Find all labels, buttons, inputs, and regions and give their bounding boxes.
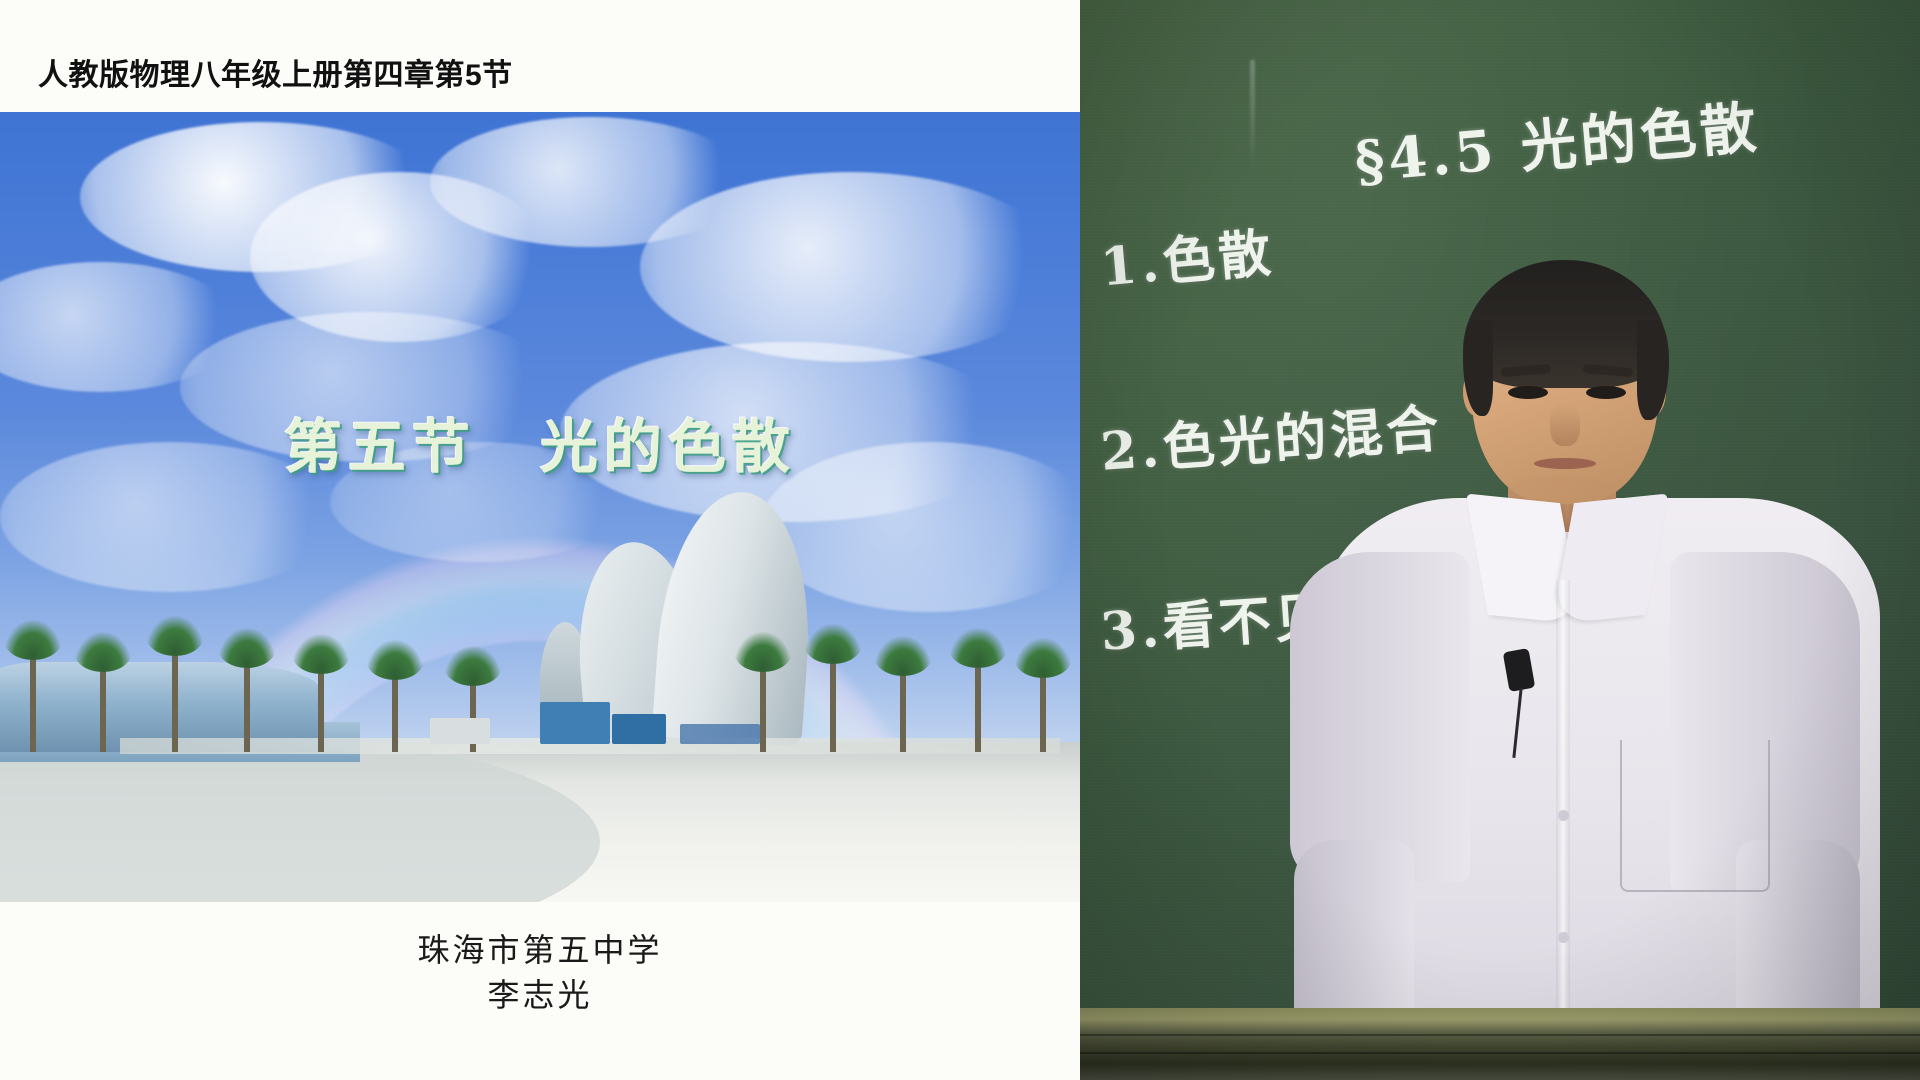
slide-header: 人教版物理八年级上册第四章第5节 [0,0,1080,112]
palm-tree [244,652,250,752]
chalk-ledge [1080,1008,1920,1080]
teacher-eye-left [1508,386,1548,399]
school-name: 珠海市第五中学 [0,902,1080,973]
palm-tree [1040,662,1046,752]
palm-tree [900,660,906,752]
chalk-smudge [1250,60,1255,170]
palm-tree [392,664,398,752]
palm-tree [760,656,766,752]
shirt-button [1558,932,1569,943]
slide-panel: 人教版物理八年级上册第四章第5节 [0,0,1080,1080]
teacher-shirt-placket [1556,580,1570,1080]
teacher-eye-right [1586,386,1626,399]
lecture-video-screen: 人教版物理八年级上册第四章第5节 [0,0,1920,1080]
teacher-mouth [1534,458,1596,469]
teacher-chin [1510,476,1614,502]
palm-tree [830,648,836,752]
slide-photo: 第五节 光的色散 [0,112,1080,902]
ledge-edge-line [1080,1034,1920,1036]
teacher-shoulder-left [1290,552,1470,882]
cloud [640,172,1060,362]
palm-tree [30,644,36,752]
palm-tree [100,656,106,752]
course-header-text: 人教版物理八年级上册第四章第5节 [38,50,513,94]
presenter-name: 李志光 [0,973,1080,1018]
event-booth [612,714,666,744]
blackboard-surface: §4.5 光的色散 1.色散 2.色光的混合 3.看不见的光 [1080,0,1920,1008]
skyline [0,602,1080,902]
palm-tree [318,658,324,752]
slide-title: 第五节 光的色散 [0,400,1080,484]
palm-tree [172,640,178,752]
blackboard-panel: §4.5 光的色散 1.色散 2.色光的混合 3.看不见的光 [1080,0,1920,1080]
teacher-figure [1220,180,1920,1080]
teacher-shirt-pocket [1620,740,1770,892]
event-tent [680,724,760,744]
teacher-hair-side-right [1637,320,1669,420]
ledge-edge-line [1080,1052,1920,1054]
shirt-button [1558,810,1569,821]
teacher-nose [1550,404,1580,446]
parked-van [430,718,490,744]
palm-tree [975,652,981,752]
slide-caption-area: 珠海市第五中学 李志光 [0,902,1080,1080]
event-booth [540,702,610,744]
